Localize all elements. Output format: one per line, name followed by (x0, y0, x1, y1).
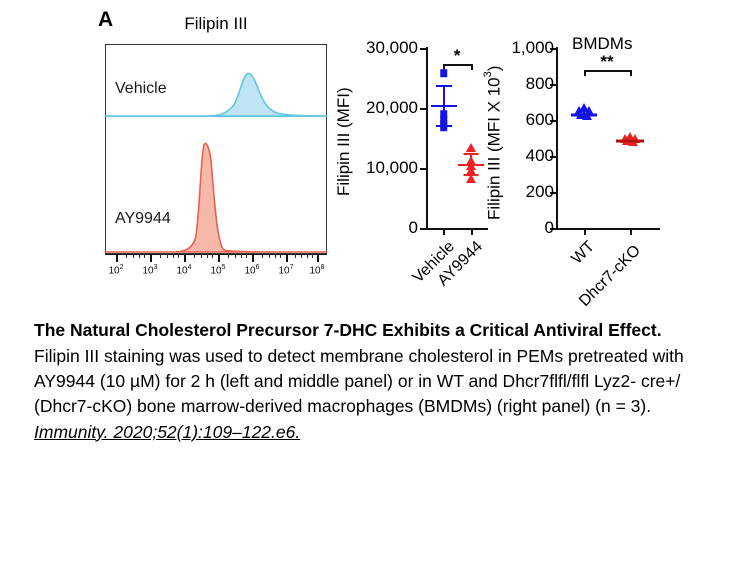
flow-tick-minor (133, 254, 134, 258)
flow-tick-minor (312, 254, 313, 258)
right-scatter-panel: Filipin III (MFI X 103) 0 200 400 600 80… (480, 30, 680, 295)
flow-tick-minor (178, 254, 179, 258)
flow-tick-minor (262, 254, 263, 258)
figure-panels: A Filipin III Vehicle AY9944 (0, 0, 756, 300)
sig-leg-left (584, 70, 586, 76)
ay9944-histogram-curve (106, 143, 326, 252)
right-mean-bar-wt (571, 114, 597, 117)
flow-x-axis: 102 103 104 105 106 107 108 (105, 254, 327, 294)
middle-x-tick (471, 228, 473, 235)
flow-histogram-panel: Vehicle AY9944 (105, 44, 327, 254)
flow-xtick-label: 103 (142, 264, 157, 276)
middle-y-axis-line (426, 47, 428, 229)
middle-data-point (440, 69, 448, 77)
flow-tick-minor (167, 254, 168, 258)
right-y-tick-label: 400 (526, 146, 554, 166)
right-y-axis-label: Filipin III (MFI X 103) (482, 48, 505, 238)
flow-tick-minor (126, 254, 127, 258)
flow-xtick-label: 108 (309, 264, 324, 276)
flow-tick-minor (228, 254, 229, 258)
flow-tick-major (286, 254, 288, 262)
caption-title: The Natural Cholesterol Precursor 7-DHC … (34, 318, 724, 342)
right-x-axis-line (556, 228, 660, 230)
middle-data-point (466, 143, 476, 152)
flow-row-label-ay9944: AY9944 (115, 210, 171, 228)
flow-tick-minor (295, 254, 296, 258)
flow-tick-major (150, 254, 152, 262)
figure-caption: The Natural Cholesterol Precursor 7-DHC … (34, 318, 724, 445)
flow-tick-minor (246, 254, 247, 258)
flow-tick-minor (144, 254, 145, 258)
right-y-axis-line (556, 47, 558, 229)
flow-row-label-vehicle: Vehicle (115, 80, 167, 98)
right-y-tick-label: 1,000 (511, 38, 554, 58)
middle-error-cap-upper (436, 85, 452, 87)
middle-x-axis-line (426, 228, 488, 230)
middle-error-cap-upper (464, 153, 479, 155)
middle-error-cap-lower (464, 174, 479, 176)
right-significance-bracket: ** (584, 62, 630, 80)
flow-xtick-label: 107 (278, 264, 293, 276)
right-mean-bar-cko (616, 140, 644, 143)
flow-tick-minor (212, 254, 213, 258)
sig-leg-right (471, 64, 473, 70)
flow-tick-minor (194, 254, 195, 258)
figure-root: A Filipin III Vehicle AY9944 (0, 0, 756, 567)
right-x-tick-label-wt: WT (555, 238, 599, 282)
flow-tick-minor (269, 254, 270, 258)
middle-y-tick (420, 228, 427, 230)
middle-x-tick (443, 228, 445, 235)
flow-tick-major (116, 254, 118, 262)
flow-tick-minor (235, 254, 236, 258)
flow-tick-minor (139, 254, 140, 258)
right-y-tick-label: 200 (526, 182, 554, 202)
flow-tick-minor (201, 254, 202, 258)
right-y-tick-label: 800 (526, 74, 554, 94)
right-panel-title: BMDMs (572, 34, 632, 54)
middle-mean-bar-vehicle (431, 105, 457, 107)
right-y-tick-label: 600 (526, 110, 554, 130)
middle-y-tick (420, 168, 427, 170)
right-significance-label: ** (584, 53, 630, 70)
caption-body: Filipin III staining was used to detect … (34, 344, 724, 419)
flow-tick-major (317, 254, 319, 262)
middle-y-tick (420, 48, 427, 50)
middle-scatter-panel: Filipin III (MFI) 0 10,000 20,000 30,000… (330, 30, 490, 295)
caption-reference[interactable]: Immunity. 2020;52(1):109–122.e6. (34, 420, 300, 445)
flow-xtick-label: 102 (108, 264, 123, 276)
flow-tick-major (184, 254, 186, 262)
middle-y-tick-label: 0 (409, 218, 418, 238)
flow-tick-minor (301, 254, 302, 258)
middle-y-tick-label: 30,000 (366, 38, 418, 58)
flow-tick-minor (275, 254, 276, 258)
right-x-tick (584, 228, 586, 235)
flow-tick-major (218, 254, 220, 262)
flow-tick-minor (207, 254, 208, 258)
flow-tick-minor (160, 254, 161, 258)
middle-error-cap-lower (436, 125, 452, 127)
flow-tick-minor (307, 254, 308, 258)
flow-histogram-title: Filipin III (105, 14, 327, 34)
flow-xtick-label: 105 (210, 264, 225, 276)
middle-significance-label: * (443, 47, 471, 64)
middle-y-tick-label: 10,000 (366, 158, 418, 178)
sig-leg-right (630, 70, 632, 76)
flow-tick-minor (280, 254, 281, 258)
middle-y-tick-label: 20,000 (366, 98, 418, 118)
middle-y-tick (420, 108, 427, 110)
flow-tick-minor (173, 254, 174, 258)
flow-row-divider (105, 116, 327, 117)
flow-xtick-label: 104 (176, 264, 191, 276)
right-x-tick (630, 228, 632, 235)
flow-tick-minor (241, 254, 242, 258)
right-y-tick-label: 0 (545, 218, 554, 238)
flow-tick-major (252, 254, 254, 262)
flow-xtick-label: 106 (244, 264, 259, 276)
middle-y-axis-label: Filipin III (MFI) (334, 52, 354, 232)
